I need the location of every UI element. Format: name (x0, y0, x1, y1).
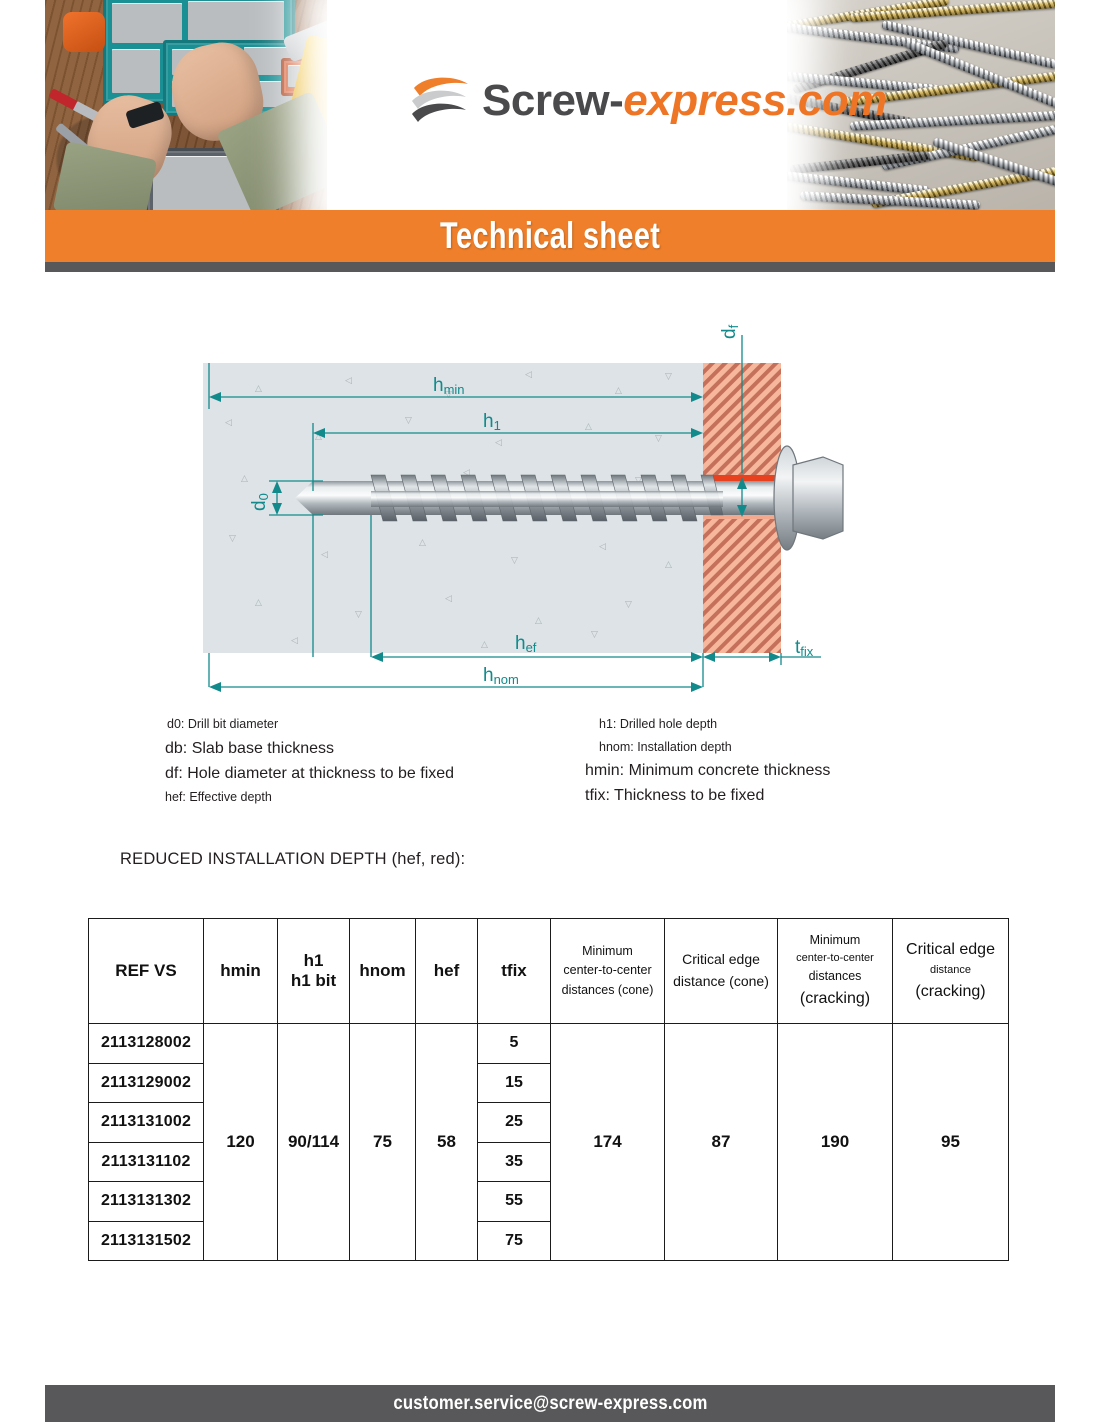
header-ref-vs: REF VS (89, 919, 204, 1024)
svg-text:△: △ (535, 615, 542, 625)
legend-item-db: db: Slab base thickness (165, 741, 454, 757)
header-crit-edge-cone-l1: Critical edge (665, 949, 777, 971)
diagram-legend: d0: Drill bit diameter db: Slab base thi… (120, 718, 980, 814)
cell-ref-1: 2113129002 (89, 1063, 204, 1103)
header-min-cc-cracking-l4: (cracking) (778, 987, 892, 1012)
cell-tfix-4: 55 (478, 1182, 551, 1222)
cell-ref-3: 2113131102 (89, 1142, 204, 1182)
svg-text:▽: ▽ (591, 629, 598, 639)
label-hnom: hnom (483, 665, 519, 687)
legend-item-hnom: hnom: Installation depth (599, 741, 830, 754)
svg-text:▽: ▽ (229, 533, 236, 543)
svg-text:◁: ◁ (599, 541, 606, 551)
specification-table-wrapper: REF VS hmin h1 h1 bit hnom hef tfix Mini… (88, 918, 1008, 1261)
svg-text:▽: ▽ (655, 433, 662, 443)
header-crit-edge-cracking: Critical edge distance (cracking) (893, 919, 1009, 1024)
specification-table: REF VS hmin h1 h1 bit hnom hef tfix Mini… (88, 918, 1009, 1261)
header-min-cc-cone-l2: center-to-center (551, 961, 664, 980)
svg-text:◁: ◁ (225, 417, 232, 427)
diagram-svg: △◁▽ ◁△▽ ◁△▽ ◁△▽ △▽◁ △▽ ▽◁△ ▽◁△ △▽◁ △▽ ◁△… (195, 305, 875, 715)
label-tfix: tfix (795, 637, 814, 659)
legend-item-tfix: tfix: Thickness to be fixed (585, 788, 830, 804)
page-footer: customer.service@screw-express.com (45, 1385, 1055, 1422)
header-tfix: tfix (478, 919, 551, 1024)
header-crit-edge-cracking-l1: Critical edge (893, 938, 1008, 963)
cell-min-cc-cracking: 190 (778, 1024, 893, 1261)
header-h1-line1: h1 (278, 951, 349, 971)
header-min-cc-cone: Minimum center-to-center distances (cone… (551, 919, 665, 1024)
cell-tfix-2: 25 (478, 1103, 551, 1143)
svg-text:◁: ◁ (345, 375, 352, 385)
cell-ref-4: 2113131302 (89, 1182, 204, 1222)
header-crit-edge-cracking-l3: (cracking) (893, 980, 1008, 1005)
header-crit-edge-cone-l2: distance (cone) (665, 971, 777, 993)
header-crit-edge-cracking-l2: distance (893, 962, 1008, 979)
footer-email[interactable]: customer.service@screw-express.com (393, 1393, 707, 1415)
cell-tfix-0: 5 (478, 1024, 551, 1064)
cell-h1: 90/114 (278, 1024, 350, 1261)
header-hmin: hmin (204, 919, 278, 1024)
header-min-cc-cracking-l3: distances (778, 967, 892, 986)
svg-text:▽: ▽ (625, 599, 632, 609)
svg-text:◁: ◁ (321, 549, 328, 559)
header-min-cc-cracking-l1: Minimum (778, 931, 892, 950)
cell-hmin: 120 (204, 1024, 278, 1261)
svg-text:△: △ (615, 385, 622, 395)
header-min-cc-cracking-l2: center-to-center (778, 950, 892, 967)
header-hef: hef (416, 919, 478, 1024)
header-divider-bar (45, 262, 1055, 272)
workbench-photo (45, 0, 345, 215)
swoosh-icon (410, 72, 472, 130)
banner-title: Technical sheet (440, 215, 660, 257)
cell-tfix-1: 15 (478, 1063, 551, 1103)
cell-tfix-5: 75 (478, 1221, 551, 1261)
table-row[interactable]: 2113128002 120 90/114 75 58 5 174 87 190… (89, 1024, 1009, 1064)
cell-crit-edge-cracking: 95 (893, 1024, 1009, 1261)
cell-hef: 58 (416, 1024, 478, 1261)
header-min-cc-cracking: Minimum center-to-center distances (crac… (778, 919, 893, 1024)
cell-ref-0: 2113128002 (89, 1024, 204, 1064)
legend-right-column: h1: Drilled hole depth hnom: Installatio… (585, 718, 830, 813)
logo-text: Screw-express.com (482, 79, 887, 123)
technical-sheet-banner: Technical sheet (45, 210, 1055, 262)
legend-item-df: df: Hole diameter at thickness to be fix… (165, 766, 454, 782)
svg-text:△: △ (419, 537, 426, 547)
legend-item-hmin: hmin: Minimum concrete thickness (585, 763, 830, 779)
header-min-cc-cone-l1: Minimum (551, 942, 664, 961)
svg-text:△: △ (255, 597, 262, 607)
page-header: Screw-express.com (45, 0, 1055, 215)
tape-measure-icon (63, 12, 105, 52)
label-df: df (719, 324, 741, 339)
cell-ref-2: 2113131002 (89, 1103, 204, 1143)
svg-text:◁: ◁ (495, 437, 502, 447)
svg-text:◁: ◁ (525, 369, 532, 379)
header-hnom: hnom (350, 919, 416, 1024)
svg-text:▽: ▽ (665, 371, 672, 381)
legend-left-column: d0: Drill bit diameter db: Slab base thi… (165, 718, 454, 813)
svg-text:▽: ▽ (511, 555, 518, 565)
anchor-installation-diagram: △◁▽ ◁△▽ ◁△▽ ◁△▽ △▽◁ △▽ ▽◁△ ▽◁△ △▽◁ △▽ ◁△… (195, 305, 875, 715)
svg-text:▽: ▽ (405, 415, 412, 425)
header-h1-line2: h1 bit (278, 971, 349, 991)
header-min-cc-cone-l3: distances (cone) (551, 981, 664, 1000)
svg-text:△: △ (665, 559, 672, 569)
cell-ref-5: 2113131502 (89, 1221, 204, 1261)
section-title: REDUCED INSTALLATION DEPTH (hef, red): (120, 850, 465, 869)
legend-item-d0: d0: Drill bit diameter (167, 718, 454, 731)
legend-item-h1: h1: Drilled hole depth (599, 718, 830, 731)
logo-text-dark: Screw- (482, 76, 623, 125)
table-header-row: REF VS hmin h1 h1 bit hnom hef tfix Mini… (89, 919, 1009, 1024)
svg-text:△: △ (255, 383, 262, 393)
cell-min-cc-cone: 174 (551, 1024, 665, 1261)
header-crit-edge-cone: Critical edge distance (cone) (665, 919, 778, 1024)
svg-text:◁: ◁ (445, 593, 452, 603)
svg-text:△: △ (241, 473, 248, 483)
svg-text:▽: ▽ (355, 609, 362, 619)
logo-text-orange: express.com (623, 76, 887, 125)
table-body: 2113128002 120 90/114 75 58 5 174 87 190… (89, 1024, 1009, 1261)
cell-hnom: 75 (350, 1024, 416, 1261)
cell-crit-edge-cone: 87 (665, 1024, 778, 1261)
cell-tfix-3: 35 (478, 1142, 551, 1182)
legend-item-hef: hef: Effective depth (165, 791, 454, 804)
svg-text:◁: ◁ (291, 635, 298, 645)
svg-text:△: △ (585, 421, 592, 431)
header-h1: h1 h1 bit (278, 919, 350, 1024)
svg-text:△: △ (481, 639, 488, 649)
site-logo[interactable]: Screw-express.com (410, 72, 887, 130)
